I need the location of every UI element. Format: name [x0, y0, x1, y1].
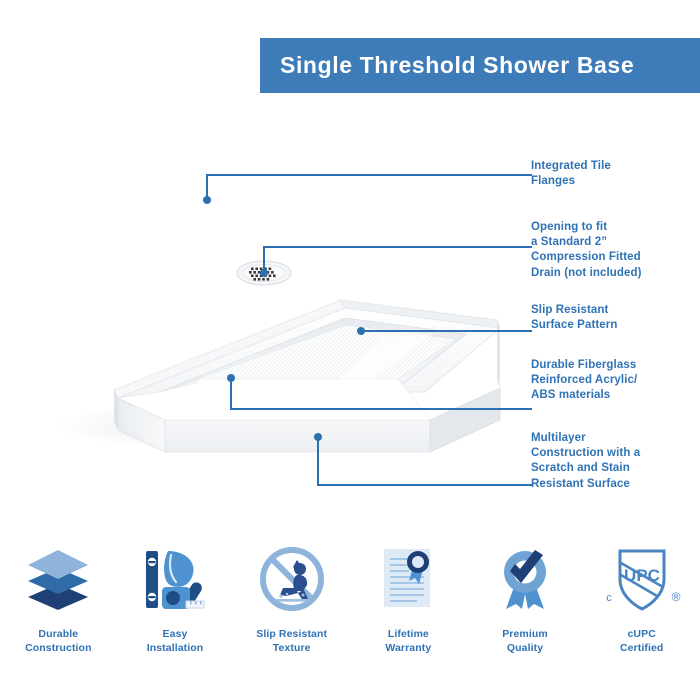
feature-durable-construction: Durable Construction — [0, 540, 117, 690]
annotation-drain-opening: Opening to fit a Standard 2” Compression… — [531, 220, 700, 281]
feature-easy-installation: Easy Installation — [117, 540, 234, 690]
feature-lifetime-warranty: Lifetime Warranty — [350, 540, 467, 690]
dot-drain — [260, 269, 268, 277]
product-illustration — [0, 140, 540, 500]
annotation-durable-materials: Durable Fiberglass Reinforced Acrylic/ A… — [531, 358, 700, 404]
feature-label: Premium Quality — [502, 627, 548, 655]
registered-mark: ® — [671, 590, 680, 604]
feature-label: cUPC Certified — [620, 627, 664, 655]
feature-label: Slip Resistant Texture — [256, 627, 327, 655]
tools-icon — [133, 540, 217, 618]
feature-label: Durable Construction — [25, 627, 92, 655]
leader-tile-flanges — [207, 175, 531, 200]
certificate-icon — [366, 540, 450, 618]
dot-tile-flanges — [203, 196, 211, 204]
dot-multilayer — [314, 433, 322, 441]
page-title: Single Threshold Shower Base — [260, 52, 634, 79]
infographic-root: Single Threshold Shower Base — [0, 0, 700, 700]
dot-materials — [227, 374, 235, 382]
feature-label: Lifetime Warranty — [385, 627, 431, 655]
feature-slip-resistant: Slip Resistant Texture — [233, 540, 350, 690]
shower-base-svg — [0, 140, 540, 500]
dot-slip-surface — [357, 327, 365, 335]
annotation-slip-resistant-surface: Slip Resistant Surface Pattern — [531, 303, 700, 333]
feature-row: Durable Construction — [0, 540, 700, 690]
leader-drain — [264, 247, 531, 273]
no-slip-icon — [250, 540, 334, 618]
annotation-integrated-tile-flanges: Integrated Tile Flanges — [531, 159, 700, 189]
upc-prefix-letter: c — [606, 592, 612, 604]
feature-cupc-certified: UPC c ® cUPC Certified — [583, 540, 700, 690]
header-banner: Single Threshold Shower Base — [260, 38, 700, 93]
feature-premium-quality: Premium Quality — [467, 540, 584, 690]
upc-shield-icon: UPC c ® — [600, 540, 684, 618]
layers-icon — [16, 540, 100, 618]
upc-shield-text: UPC — [624, 566, 660, 585]
annotation-multilayer-construction: Multilayer Construction with a Scratch a… — [531, 431, 700, 492]
feature-label: Easy Installation — [147, 627, 204, 655]
check-badge-icon — [483, 540, 567, 618]
